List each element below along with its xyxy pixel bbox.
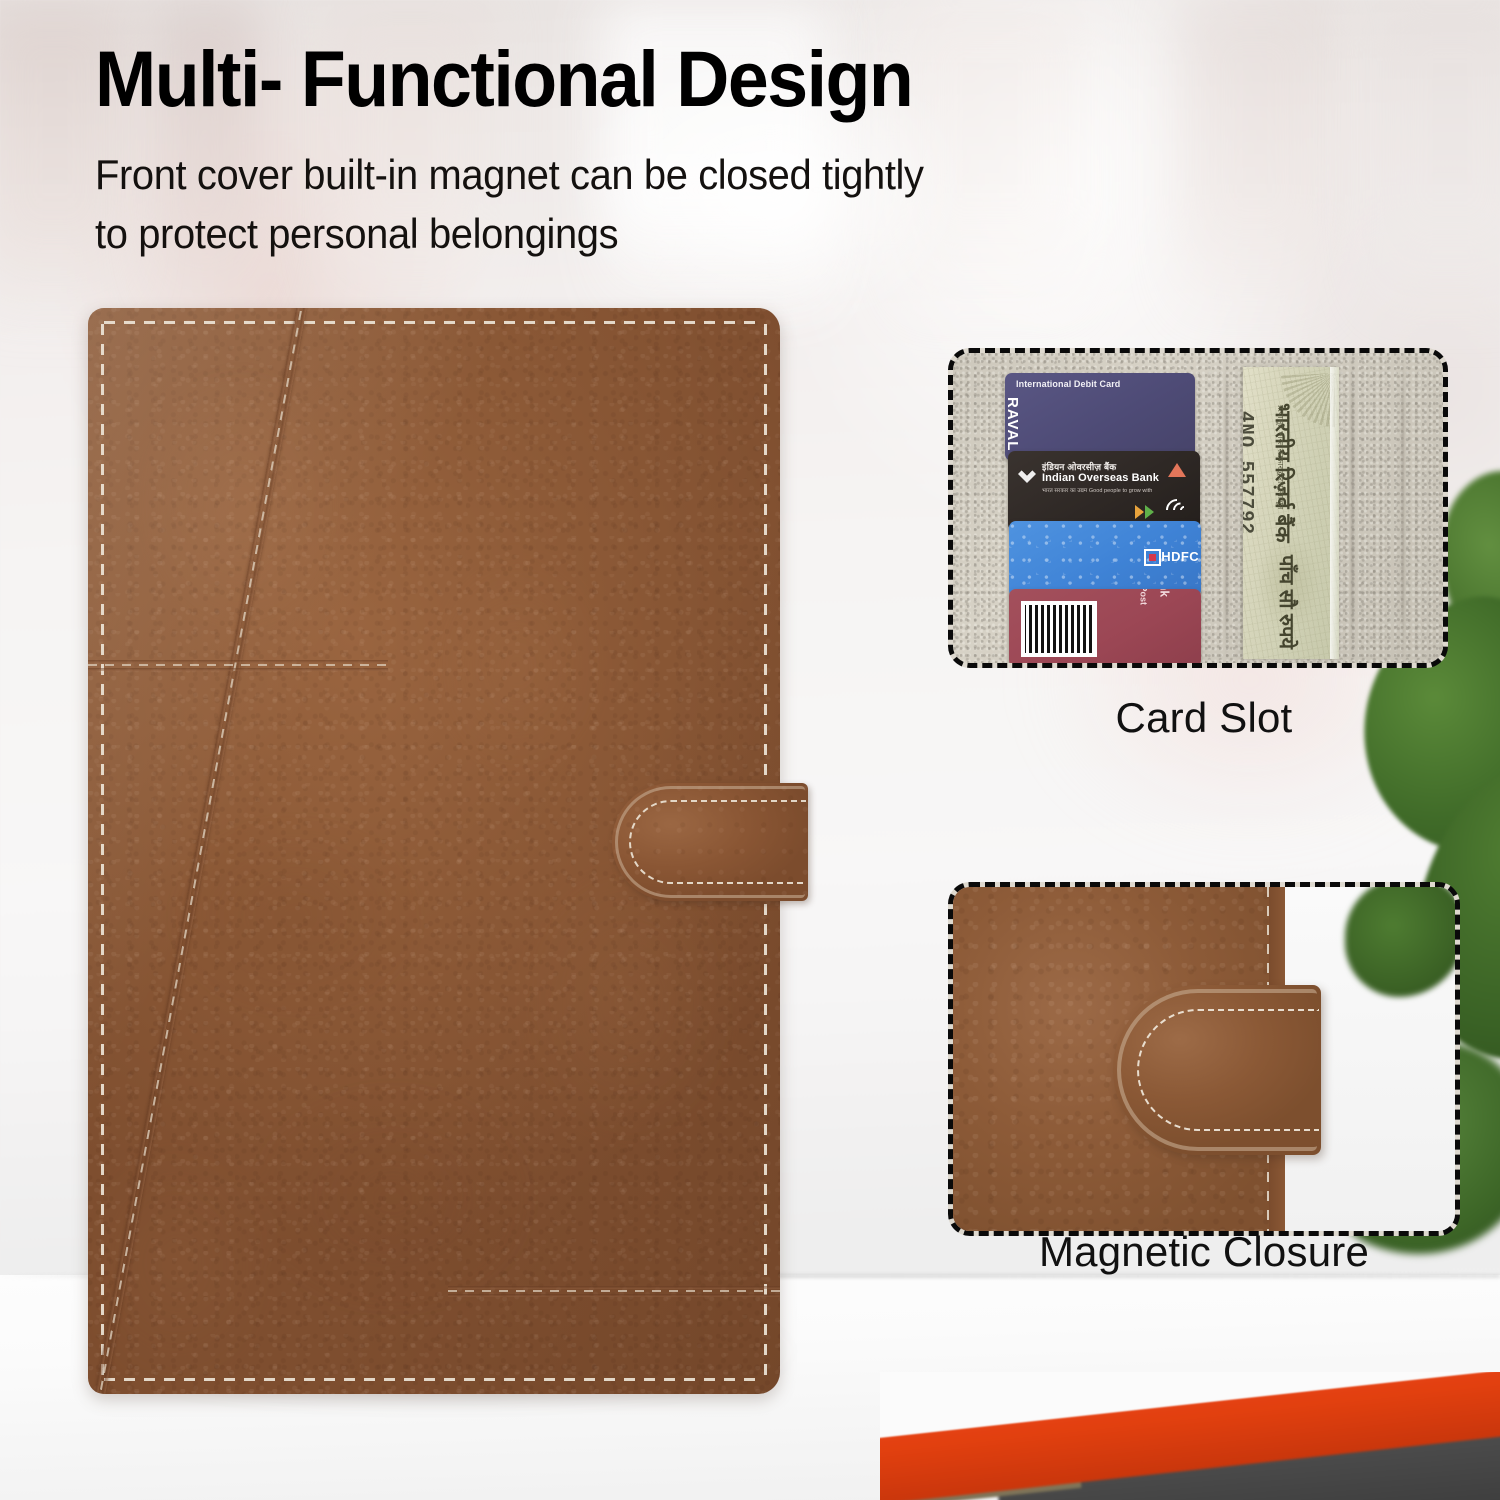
seam-line: [88, 660, 388, 663]
hdfc-brand-label: HDFC: [1161, 549, 1199, 564]
page-title: Multi- Functional Design: [95, 36, 1099, 122]
seam-line: [448, 1286, 780, 1289]
magnetic-strap: [612, 783, 808, 901]
inset-label-card-slot: Card Slot: [948, 694, 1460, 742]
banknote-edge-strip: [1330, 367, 1339, 659]
heading-block: Multi- Functional Design Front cover bui…: [95, 36, 1175, 262]
chevron-icon: [1135, 505, 1154, 519]
seam-line: [448, 1294, 780, 1297]
bank-name-english: Indian Overseas Bank: [1042, 472, 1159, 484]
suede-fold: [1351, 353, 1354, 663]
magnetic-strap-closeup: [1113, 985, 1321, 1155]
card-international-debit: International Debit Card RAVAL: [1005, 373, 1195, 461]
banknote-denomination: पाँच सौ रुपये: [1274, 555, 1301, 649]
banknote: 4NQ 557792 भारतीय रिज़र्व बैंक प्रत्याभू…: [1243, 367, 1339, 659]
card-indian-overseas-bank: इंडियन ओवरसीज़ बैंक Indian Overseas Bank…: [1008, 451, 1200, 531]
banknote-issuer-sub: प्रत्याभूत भारत सरकार द्वारा प्रत्याभूत: [1275, 405, 1286, 509]
seam-line: [88, 668, 388, 671]
card-india-post-payments-bank: Payments Bank Post: [1009, 589, 1201, 667]
inset-label-magnetic-closure: Magnetic Closure: [948, 1228, 1460, 1276]
product-feature-image: Multi- Functional Design Front cover bui…: [0, 0, 1500, 1500]
subtitle-line-1: Front cover built-in magnet can be close…: [95, 146, 1121, 203]
suede-fold: [1225, 353, 1228, 663]
horizontal-seam-group-lower: [448, 1286, 780, 1300]
card-type-label: International Debit Card: [1016, 379, 1120, 389]
triangle-icon: [1168, 463, 1186, 477]
hdfc-logo-icon: [1144, 549, 1161, 566]
background-streak: [1180, 0, 1330, 330]
subtitle-line-2: to protect personal belongings: [95, 205, 1121, 262]
strap-stitching: [1137, 1009, 1319, 1131]
ippb-brand-label: Payments Bank: [1157, 589, 1171, 597]
horizontal-seam-group-upper: [88, 660, 388, 674]
iob-logo-icon: [1018, 465, 1036, 483]
ippb-post-label: Post: [1139, 589, 1149, 605]
stitch-top: [104, 321, 764, 324]
contactless-icon: [1164, 498, 1188, 522]
card-hdfc-bank: HDFC: [1009, 521, 1201, 597]
orange-book: [880, 1372, 1500, 1500]
banknote-serial: 4NQ 557792: [1243, 411, 1257, 535]
strap-stitching: [629, 800, 806, 884]
inset-magnetic-closure: [948, 882, 1460, 1236]
inset-card-slot: 4NQ 557792 भारतीय रिज़र्व बैंक प्रत्याभू…: [948, 348, 1448, 668]
card-holder-name: RAVAL: [1005, 397, 1021, 451]
background-streak: [1370, 0, 1500, 330]
seam-stitch: [448, 1290, 780, 1292]
bank-tagline: भारत सरकार का उद्यम Good people to grow …: [1042, 486, 1152, 494]
stitch-bottom: [104, 1378, 764, 1381]
stitch-left: [101, 324, 104, 1378]
seam-stitch: [88, 664, 388, 666]
qr-code: [1021, 601, 1097, 657]
plant-leaf: [1345, 882, 1460, 997]
suede-fold: [1401, 353, 1404, 663]
